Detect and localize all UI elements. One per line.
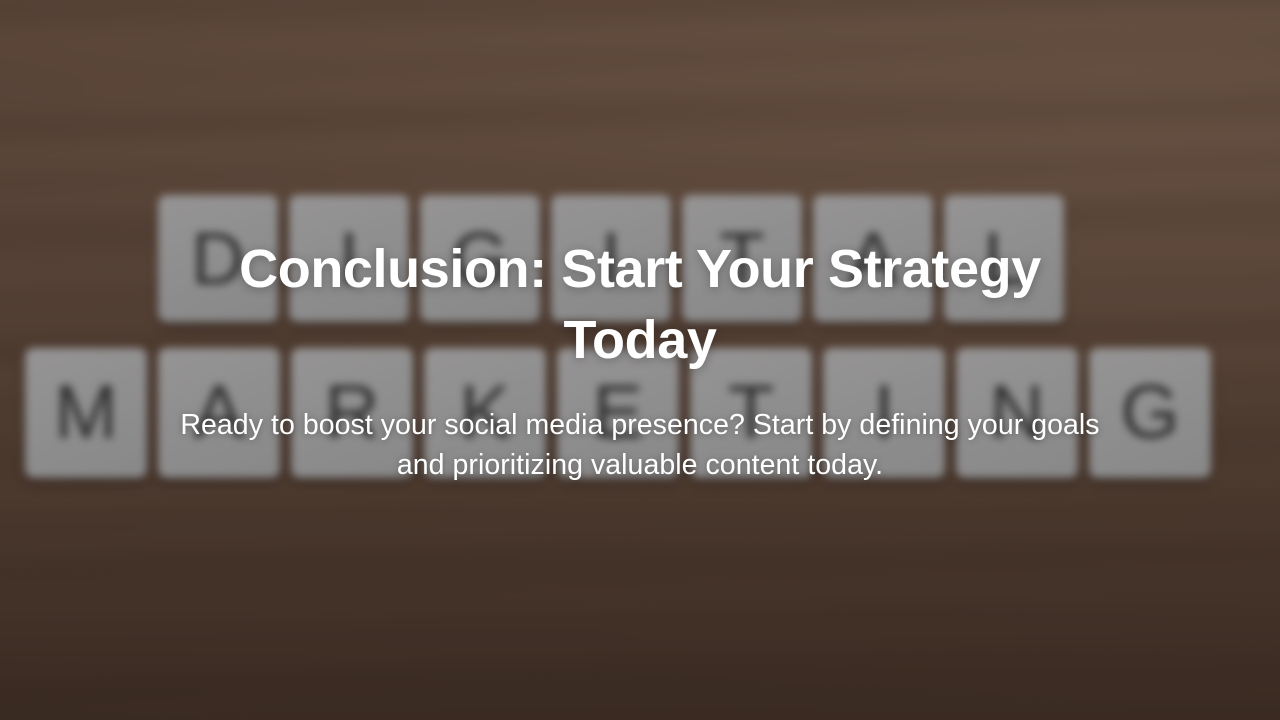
slide-content: Conclusion: Start Your Strategy Today Re… (0, 0, 1280, 720)
slide-title: Conclusion: Start Your Strategy Today (190, 234, 1090, 374)
slide-root: D I G I T A L M A R K E T I N G Conclu (0, 0, 1280, 720)
slide-subtitle: Ready to boost your social media presenc… (175, 405, 1105, 486)
